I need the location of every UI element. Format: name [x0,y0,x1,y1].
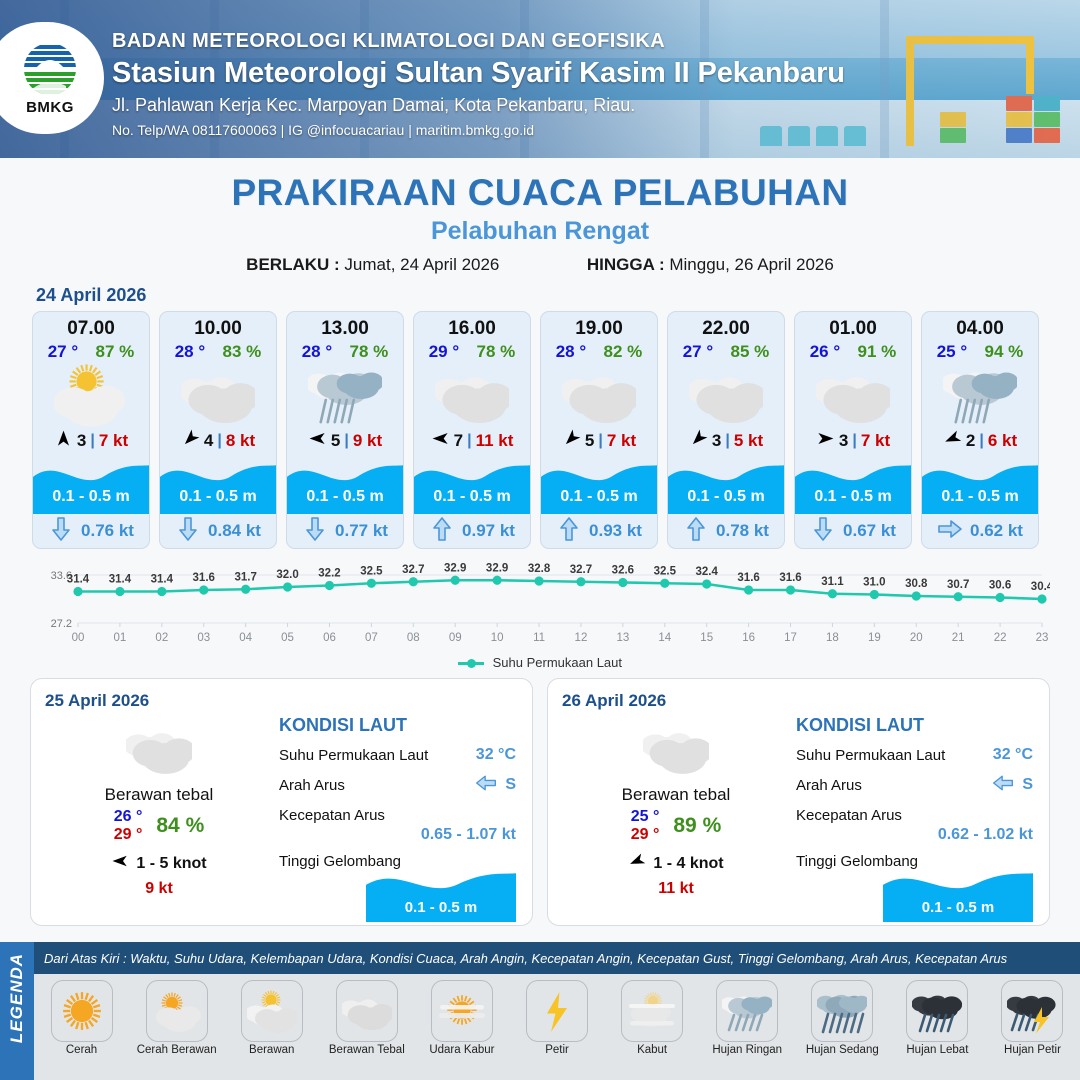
svg-text:32.4: 32.4 [696,566,719,578]
svg-text:31.7: 31.7 [234,571,256,583]
wave-height-value: 0.1 - 0.5 m [541,488,657,506]
station-address: Jl. Pahlawan Kerja Kec. Marpoyan Damai, … [112,95,845,116]
wind-direction-arrow-icon [308,429,327,453]
svg-text:05: 05 [281,632,294,644]
wind-separator: | [725,432,729,450]
card-time: 01.00 [795,312,911,340]
svg-text:32.6: 32.6 [612,565,634,577]
rain-icon [922,362,1038,426]
svg-text:14: 14 [658,632,671,644]
legend-item[interactable]: Hujan Ringan [700,980,795,1056]
hourly-card[interactable]: 22.00 27 ° 85 % 3 | 5 kt 0.1 - 0.5 m 0.7… [667,311,785,549]
agency-name: BADAN METEOROLOGI KLIMATOLOGI DAN GEOFIS… [112,30,845,53]
sst-value: 32 °C [993,746,1033,764]
svg-text:11: 11 [533,632,545,644]
hourly-card[interactable]: 07.00 27 ° 87 % 3 | 7 kt 0.1 - 0.5 m 0.7… [32,311,150,549]
wind-direction-value: 4 [204,431,213,451]
legend-icon-row: Cerah Cerah Berawan Berawan Berawan Teba… [34,974,1080,1080]
hingga-label: HINGGA : [587,255,665,274]
cloudy-icon [160,362,276,426]
card-time: 10.00 [160,312,276,340]
sun-icon [51,980,113,1042]
hourly-card[interactable]: 19.00 28 ° 82 % 5 | 7 kt 0.1 - 0.5 m 0.9… [540,311,658,549]
panel-wind-arrow-icon [628,852,646,875]
wave-height-value: 0.1 - 0.5 m [160,488,276,506]
svg-text:16: 16 [742,632,755,644]
current-direction-value: S [505,776,516,794]
legend-side-label: LEGENDA [7,950,27,1046]
validity-row: BERLAKU : Jumat, 24 April 2026 HINGGA : … [0,255,1080,275]
panel-temp-min: 26 ° [114,808,143,826]
svg-text:30.8: 30.8 [905,578,928,590]
wind-direction-arrow-icon [54,429,73,453]
panel-humidity: 89 % [673,814,721,838]
svg-text:13: 13 [616,632,629,644]
wind-direction-arrow-icon [816,429,835,453]
panel-temp-min: 25 ° [631,808,660,826]
legend-item-label: Hujan Ringan [700,1044,795,1056]
card-time: 19.00 [541,312,657,340]
card-time: 07.00 [33,312,149,340]
cloudy-icon [414,362,530,426]
page-subtitle: Pelabuhan Rengat [0,217,1080,246]
wind-separator: | [852,432,856,450]
legend-item[interactable]: Hujan Petir [985,980,1080,1056]
svg-text:12: 12 [575,632,588,644]
svg-text:32.9: 32.9 [444,562,466,574]
current-direction-arrow-icon [810,519,836,544]
bmkg-logo-icon [22,41,78,97]
svg-text:08: 08 [407,632,420,644]
sun-clouds-icon [241,980,303,1042]
svg-text:31.4: 31.4 [67,574,90,586]
svg-text:10: 10 [491,632,504,644]
svg-text:22: 22 [994,632,1007,644]
current-speed-value: 0.97 kt [462,521,515,541]
svg-text:17: 17 [784,632,797,644]
svg-text:15: 15 [700,632,713,644]
cloudy-icon [566,717,786,779]
legend-item[interactable]: Cerah [34,980,129,1056]
legend-item-label: Cerah Berawan [129,1044,224,1056]
svg-text:31.1: 31.1 [821,576,844,588]
svg-text:31.0: 31.0 [863,577,885,589]
current-speed-value: 0.62 - 1.02 kt [796,826,1033,844]
current-direction-label: Arah Arus [796,777,862,794]
current-direction-arrow-icon [429,519,455,544]
wind-speed: 9 kt [353,431,382,451]
wind-separator: | [979,432,983,450]
wind-separator: | [598,432,602,450]
current-speed-value: 0.77 kt [335,521,388,541]
light-rain-icon [716,980,778,1042]
legend-item-label: Udara Kabur [414,1044,509,1056]
sst-chart: 33.627.231.40031.40131.40231.60331.70432… [30,561,1050,653]
wind-direction-value: 2 [966,431,975,451]
panel-date: 26 April 2026 [562,691,1035,711]
current-direction-arrow-icon [992,772,1014,798]
svg-text:21: 21 [952,632,965,644]
legend-item-label: Petir [509,1044,604,1056]
svg-text:30.7: 30.7 [947,579,969,591]
title-section: PRAKIRAAN CUACA PELABUHAN Pelabuhan Reng… [0,158,1080,275]
legend-item[interactable]: Hujan Lebat [890,980,985,1056]
svg-text:31.4: 31.4 [151,574,174,586]
svg-text:32.5: 32.5 [360,565,383,577]
legend-item-label: Hujan Petir [985,1044,1080,1056]
svg-text:31.6: 31.6 [737,572,759,584]
cloudy-icon [49,717,269,779]
panel-wind-range: 1 - 4 knot [653,855,723,873]
svg-text:32.9: 32.9 [486,562,508,574]
legend-item[interactable]: Kabut [605,980,700,1056]
svg-text:23: 23 [1036,632,1049,644]
wave-height-band: 0.1 - 0.5 m [414,456,530,514]
legend-item[interactable]: Berawan Tebal [319,980,414,1056]
current-speed-value: 0.93 kt [589,521,642,541]
header-text-block: BADAN METEOROLOGI KLIMATOLOGI DAN GEOFIS… [112,30,845,138]
page-title: PRAKIRAAN CUACA PELABUHAN [0,172,1080,214]
svg-text:30.4: 30.4 [1031,581,1050,593]
legend-item[interactable]: Hujan Sedang [795,980,890,1056]
station-contact: No. Telp/WA 08117600063 | IG @infocuacar… [112,122,845,138]
haze-icon [431,980,493,1042]
card-time: 16.00 [414,312,530,340]
svg-text:30.6: 30.6 [989,580,1011,592]
wind-speed: 8 kt [226,431,255,451]
wind-direction-arrow-icon [181,429,200,453]
wind-direction-arrow-icon [689,429,708,453]
sst-label: Suhu Permukaan Laut [796,747,945,764]
panel-wave-band: 0.1 - 0.5 m [883,878,1033,922]
panel-humidity: 84 % [156,814,204,838]
svg-text:20: 20 [910,632,923,644]
panel-wave-value: 0.1 - 0.5 m [883,899,1033,916]
rain-icon [287,362,403,426]
wind-speed: 6 kt [988,431,1017,451]
current-direction-label: Arah Arus [279,777,345,794]
wave-height-value: 0.1 - 0.5 m [668,488,784,506]
chart-legend-label: Suhu Permukaan Laut [493,655,622,670]
wave-height-band: 0.1 - 0.5 m [160,456,276,514]
wind-speed: 7 kt [99,431,128,451]
station-name: Stasiun Meteorologi Sultan Syarif Kasim … [112,57,845,90]
wind-direction-value: 5 [585,431,594,451]
page-header: BMKG BADAN METEOROLOGI KLIMATOLOGI DAN G… [0,0,1080,158]
hourly-card[interactable]: 13.00 28 ° 78 % 5 | 9 kt 0.1 - 0.5 m [286,311,404,549]
current-direction-arrow-icon [475,772,497,798]
wave-height-band: 0.1 - 0.5 m [541,456,657,514]
current-speed-value: 0.78 kt [716,521,769,541]
panel-wind-range: 1 - 5 knot [136,855,206,873]
svg-text:32.5: 32.5 [654,565,677,577]
hourly-card[interactable]: 04.00 25 ° 94 % 2 | 6 kt 0.1 - 0.5 m [921,311,1039,549]
panel-gust: 11 kt [566,880,786,898]
svg-text:19: 19 [868,632,881,644]
wind-separator: | [344,432,348,450]
svg-text:32.7: 32.7 [570,564,592,576]
current-speed-value: 0.67 kt [843,521,896,541]
partly-cloudy-icon [33,362,149,426]
wave-height-value: 0.1 - 0.5 m [414,488,530,506]
chart-legend-swatch [458,662,484,665]
current-direction-arrow-icon [937,519,963,544]
wave-height-band: 0.1 - 0.5 m [33,456,149,514]
legend-item[interactable]: Udara Kabur [414,980,509,1056]
wind-direction-value: 3 [712,431,721,451]
wind-direction-value: 7 [454,431,463,451]
wind-separator: | [467,432,471,450]
wind-direction-arrow-icon [562,429,581,453]
legend-note: Dari Atas Kiri : Waktu, Suhu Udara, Kele… [34,942,1080,974]
card-time: 22.00 [668,312,784,340]
legend-item-label: Cerah [34,1044,129,1056]
daily-forecast-panels: 25 April 2026 Berawan tebal 26 ° 29 ° 84… [0,670,1080,926]
sst-label: Suhu Permukaan Laut [279,747,428,764]
svg-text:00: 00 [72,632,85,644]
svg-text:32.8: 32.8 [528,563,551,575]
svg-text:31.6: 31.6 [193,572,215,584]
svg-text:03: 03 [197,632,210,644]
current-direction-arrow-icon [302,519,328,544]
legend-item[interactable]: Petir [509,980,604,1056]
sst-value: 32 °C [476,746,516,764]
svg-text:31.6: 31.6 [779,572,801,584]
bmkg-logo-text: BMKG [26,99,74,116]
panel-gust: 9 kt [49,880,269,898]
legend-item-label: Berawan [224,1044,319,1056]
sun-cloud-icon [146,980,208,1042]
panel-condition: Berawan tebal [566,785,786,805]
daily-forecast-panel[interactable]: 25 April 2026 Berawan tebal 26 ° 29 ° 84… [30,678,533,926]
legend-item-label: Hujan Lebat [890,1044,985,1056]
wind-separator: | [90,432,94,450]
svg-text:07: 07 [365,632,378,644]
hourly-forecast-row: 07.00 27 ° 87 % 3 | 7 kt 0.1 - 0.5 m 0.7… [0,311,1080,549]
wave-height-value: 0.1 - 0.5 m [795,488,911,506]
svg-text:32.7: 32.7 [402,564,424,576]
svg-text:31.4: 31.4 [109,574,132,586]
panel-temp-max: 29 ° [631,826,660,844]
wave-height-band: 0.1 - 0.5 m [287,456,403,514]
hourly-card[interactable]: 10.00 28 ° 83 % 4 | 8 kt 0.1 - 0.5 m 0.8… [159,311,277,549]
svg-text:32.0: 32.0 [276,569,298,581]
wave-height-band: 0.1 - 0.5 m [795,456,911,514]
current-direction-value: S [1022,776,1033,794]
legend-item-label: Berawan Tebal [319,1044,414,1056]
berlaku-value: Jumat, 24 April 2026 [344,255,499,274]
moderate-rain-icon [811,980,873,1042]
wind-separator: | [217,432,221,450]
hourly-date-label: 24 April 2026 [36,285,1080,306]
daily-forecast-panel[interactable]: 26 April 2026 Berawan tebal 25 ° 29 ° 89… [547,678,1050,926]
svg-text:04: 04 [239,632,252,644]
current-speed-label: Kecepatan Arus [279,807,385,824]
cloudy-icon [795,362,911,426]
hourly-card[interactable]: 01.00 26 ° 91 % 3 | 7 kt 0.1 - 0.5 m 0.6… [794,311,912,549]
berlaku-label: BERLAKU : [246,255,340,274]
card-time: 04.00 [922,312,1038,340]
panel-date: 25 April 2026 [45,691,518,711]
wind-direction-arrow-icon [431,429,450,453]
current-direction-arrow-icon [683,519,709,544]
wind-speed: 7 kt [607,431,636,451]
current-speed-value: 0.62 kt [970,521,1023,541]
panel-condition: Berawan tebal [49,785,269,805]
legend-item[interactable]: Berawan [224,980,319,1056]
current-speed-value: 0.65 - 1.07 kt [279,826,516,844]
svg-text:02: 02 [155,632,168,644]
current-direction-arrow-icon [175,519,201,544]
panel-wave-band: 0.1 - 0.5 m [366,878,516,922]
legend-item[interactable]: Cerah Berawan [129,980,224,1056]
wind-speed: 7 kt [861,431,890,451]
sea-condition-title: KONDISI LAUT [796,715,1033,736]
wind-direction-arrow-icon [943,429,962,453]
wave-height-value: 0.1 - 0.5 m [33,488,149,506]
sea-condition-title: KONDISI LAUT [279,715,516,736]
wind-direction-value: 3 [77,431,86,451]
thunderstorm-icon [1001,980,1063,1042]
legend-section: LEGENDA Dari Atas Kiri : Waktu, Suhu Uda… [0,942,1080,1080]
panel-temp-max: 29 ° [114,826,143,844]
svg-text:06: 06 [323,632,336,644]
wind-speed: 5 kt [734,431,763,451]
svg-text:27.2: 27.2 [51,618,72,630]
chart-legend: Suhu Permukaan Laut [0,655,1080,670]
lightning-icon [526,980,588,1042]
legend-item-label: Kabut [605,1044,700,1056]
current-speed-value: 0.76 kt [81,521,134,541]
wave-height-value: 0.1 - 0.5 m [922,488,1038,506]
wind-direction-value: 3 [839,431,848,451]
svg-text:09: 09 [449,632,462,644]
wave-height-band: 0.1 - 0.5 m [922,456,1038,514]
cloudy-icon [668,362,784,426]
current-speed-value: 0.84 kt [208,521,261,541]
clouds-icon [336,980,398,1042]
hourly-card[interactable]: 16.00 29 ° 78 % 7 | 11 kt 0.1 - 0.5 m 0.… [413,311,531,549]
wave-height-value: 0.1 - 0.5 m [287,488,403,506]
current-direction-arrow-icon [48,519,74,544]
wind-speed: 11 kt [476,431,514,451]
wave-height-band: 0.1 - 0.5 m [668,456,784,514]
fog-icon [621,980,683,1042]
svg-text:01: 01 [114,632,127,644]
svg-text:32.2: 32.2 [318,568,340,580]
heavy-rain-icon [906,980,968,1042]
current-speed-label: Kecepatan Arus [796,807,902,824]
legend-side-bar: LEGENDA [0,942,34,1080]
svg-text:18: 18 [826,632,839,644]
panel-wave-value: 0.1 - 0.5 m [366,899,516,916]
panel-wind-arrow-icon [111,852,129,875]
card-time: 13.00 [287,312,403,340]
hingga-value: Minggu, 26 April 2026 [669,255,833,274]
wind-direction-value: 5 [331,431,340,451]
current-direction-arrow-icon [556,519,582,544]
legend-item-label: Hujan Sedang [795,1044,890,1056]
cloudy-icon [541,362,657,426]
